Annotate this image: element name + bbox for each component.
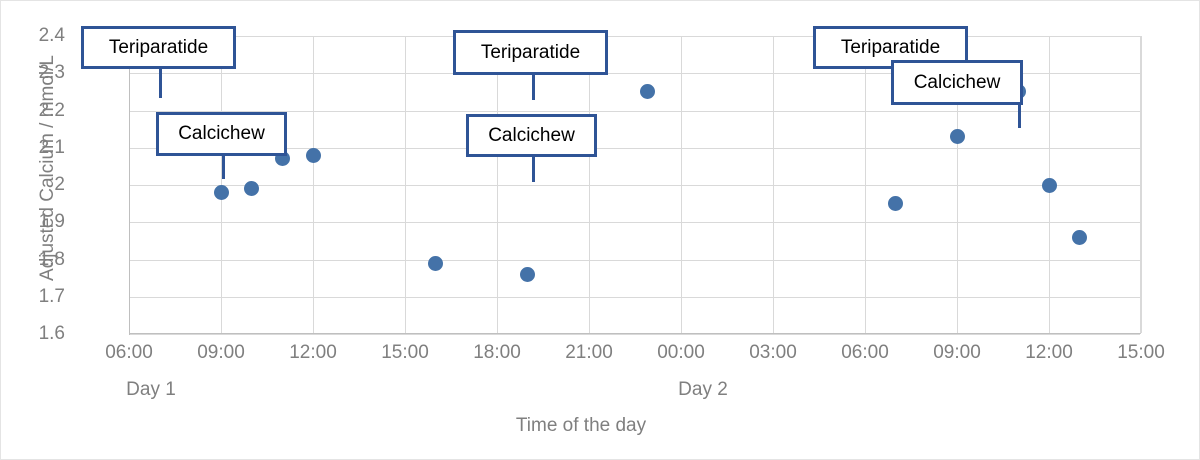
gridline-vertical	[773, 36, 774, 333]
y-axis-tick-label: 1.9	[5, 212, 65, 231]
annotation-leader-line	[532, 75, 535, 100]
data-point	[520, 267, 535, 282]
data-point	[1042, 178, 1057, 193]
annotation-calcichew-day2[interactable]: Calcichew	[891, 60, 1023, 105]
annotation-teriparatide-day1[interactable]: Teriparatide	[81, 26, 236, 69]
gridline-horizontal	[129, 222, 1140, 223]
gridline-vertical	[497, 36, 498, 333]
day-label: Day 2	[623, 379, 783, 401]
gridline-horizontal	[129, 36, 1140, 37]
y-axis-tick-label: 2.2	[5, 101, 65, 120]
y-axis-line	[129, 36, 130, 335]
gridline-horizontal	[129, 334, 1140, 335]
y-axis-tick-label: 1.6	[5, 324, 65, 343]
gridline-vertical	[405, 36, 406, 333]
annotation-calcichew-day1-evening[interactable]: Calcichew	[466, 114, 597, 157]
gridline-vertical	[589, 36, 590, 333]
data-point	[306, 148, 321, 163]
y-axis-title: Adjusted Calcium / mmol/L	[37, 3, 59, 333]
annotation-leader-line	[159, 69, 162, 98]
gridline-vertical	[865, 36, 866, 333]
annotation-leader-line	[222, 156, 225, 179]
y-axis-tick-label: 2	[5, 175, 65, 194]
data-point	[1072, 230, 1087, 245]
data-point	[428, 256, 443, 271]
data-point	[950, 129, 965, 144]
annotation-leader-line	[1018, 105, 1021, 128]
y-axis-tick-label: 2.3	[5, 63, 65, 82]
y-axis-tick-label: 2.4	[5, 26, 65, 45]
data-point	[214, 185, 229, 200]
gridline-horizontal	[129, 297, 1140, 298]
gridline-horizontal	[129, 260, 1140, 261]
x-axis-title: Time of the day	[421, 415, 741, 437]
annotation-calcichew-day1[interactable]: Calcichew	[156, 112, 287, 156]
annotation-teriparatide-day1-evening[interactable]: Teriparatide	[453, 30, 608, 75]
scatter-chart: Adjusted Calcium / mmol/L Time of the da…	[0, 0, 1200, 460]
gridline-vertical	[1141, 36, 1142, 333]
gridline-horizontal	[129, 185, 1140, 186]
x-axis-tick-label: 15:00	[1081, 342, 1200, 364]
y-axis-tick-label: 1.8	[5, 250, 65, 269]
y-axis-tick-label: 1.7	[5, 287, 65, 306]
day-label: Day 1	[71, 379, 231, 401]
gridline-vertical	[681, 36, 682, 333]
gridline-vertical	[313, 36, 314, 333]
annotation-leader-line	[532, 157, 535, 182]
y-axis-tick-label: 2.1	[5, 138, 65, 157]
